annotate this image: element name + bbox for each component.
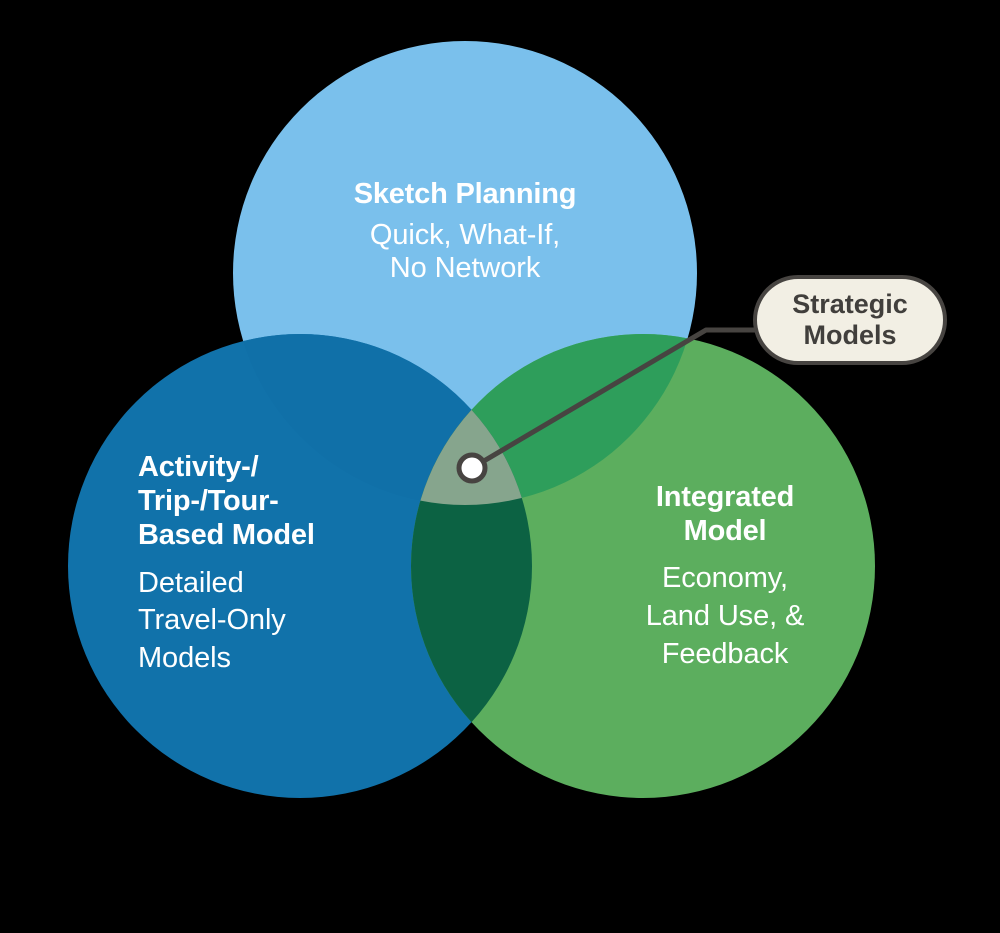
integrated-model-subtitle: Economy, Land Use, & Feedback [594, 560, 856, 673]
venn-diagram: Sketch Planning Quick, What-If, No Netwo… [0, 0, 1000, 933]
label-integrated-model: Integrated Model Economy, Land Use, & Fe… [594, 480, 856, 674]
activity-model-subtitle: Detailed Travel-Only Models [138, 565, 418, 678]
callout-label: Strategic Models [792, 289, 908, 352]
callout-strategic-models[interactable]: Strategic Models [753, 275, 947, 365]
activity-model-title: Activity-/ Trip-/Tour- Based Model [138, 450, 418, 553]
sketch-planning-title: Sketch Planning [243, 178, 687, 212]
intersection-dot-icon[interactable] [459, 455, 485, 481]
label-sketch-planning: Sketch Planning Quick, What-If, No Netwo… [243, 178, 687, 286]
integrated-model-title: Integrated Model [594, 480, 856, 548]
label-activity-model: Activity-/ Trip-/Tour- Based Model Detai… [138, 450, 418, 678]
sketch-planning-subtitle: Quick, What-If, No Network [243, 219, 687, 286]
